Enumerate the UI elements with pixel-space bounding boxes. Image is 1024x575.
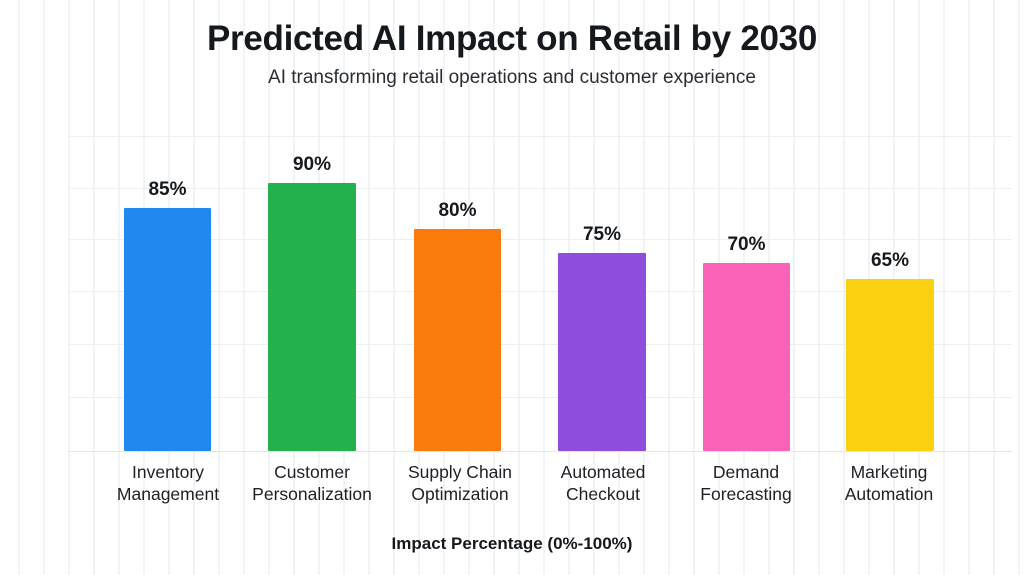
bar[interactable] — [268, 183, 356, 451]
bar[interactable] — [558, 253, 646, 451]
bar[interactable] — [414, 229, 501, 451]
gridline — [68, 136, 1012, 137]
bar-value-label: 85% — [124, 179, 211, 201]
x-axis-tick-label-line: Automation — [799, 483, 979, 505]
bar-value-label: 75% — [558, 224, 646, 246]
x-axis-tick-label: MarketingAutomation — [799, 461, 979, 505]
bar-value-label: 65% — [846, 250, 934, 272]
x-axis-tick-label-line: Marketing — [799, 461, 979, 483]
bar-value-label: 80% — [414, 200, 501, 222]
title-block: Predicted AI Impact on Retail by 2030 AI… — [0, 18, 1024, 90]
chart-subtitle: AI transforming retail operations and cu… — [0, 66, 1024, 90]
bar[interactable] — [703, 263, 790, 451]
x-axis-title: Impact Percentage (0%-100%) — [0, 533, 1024, 554]
bar-chart: Predicted AI Impact on Retail by 2030 AI… — [0, 0, 1024, 575]
chart-title: Predicted AI Impact on Retail by 2030 — [0, 18, 1024, 60]
bar[interactable] — [846, 279, 934, 451]
bar[interactable] — [124, 208, 211, 451]
bar-value-label: 70% — [703, 234, 790, 256]
bar-value-label: 90% — [268, 154, 356, 176]
x-axis-line — [68, 451, 1012, 452]
plot-area: 10080706040200 85%90%80%75%70%65% — [68, 136, 1012, 451]
